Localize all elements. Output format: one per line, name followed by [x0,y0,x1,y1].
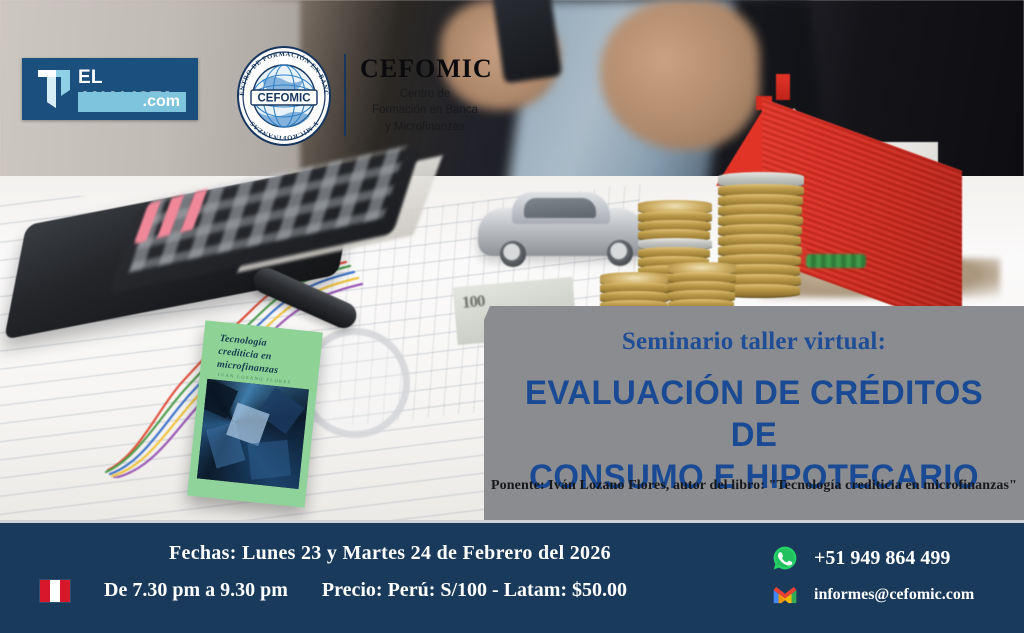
email-contact[interactable]: informes@cefomic.com [772,585,974,605]
seminar-kicker: Seminario taller virtual: [484,328,1024,356]
cefomic-tagline: Centro de Formación en Banca y Microfina… [360,86,490,135]
footer-time: De 7.30 pm a 9.30 pm [104,579,288,602]
toy-car-wheel-rear [607,240,633,266]
book-cover-artwork [197,379,309,489]
book-cover: Tecnología crediticia en microfinanzas I… [187,320,323,507]
promotional-poster: 100 [0,0,1024,633]
el-analista-logo[interactable]: EL ANALISTA .com [22,58,198,120]
footer-bar: Fechas: Lunes 23 y Martes 24 de Febrero … [0,523,1024,633]
seminar-title-line1: EVALUACIÓN DE CRÉDITOS DE [500,372,1008,456]
footer-price: Precio: Perú: S/100 - Latam: $50.00 [322,579,627,602]
gmail-icon [772,585,798,605]
house-chimney [776,74,790,100]
footer-dates: Fechas: Lunes 23 y Martes 24 de Febrero … [0,542,740,565]
whatsapp-icon [772,545,798,571]
whatsapp-number: +51 949 864 499 [814,547,950,570]
peru-flag-icon [40,580,70,602]
title-panel: Seminario taller virtual: EVALUACIÓN DE … [484,306,1024,523]
analista-mark-icon [36,68,72,110]
footer-details: Fechas: Lunes 23 y Martes 24 de Febrero … [0,523,740,633]
toy-car-wheel-front [500,241,526,267]
cefomic-wordmark: CEFOMIC [360,54,493,84]
email-address: informes@cefomic.com [814,586,974,604]
globe-badge-icon: CEFOMIC CENTRO DE FORMACIÓN EN BANCA Y M… [234,46,334,146]
presenter-line: Ponente: Iván Lozano Flores, autor del l… [484,478,1024,494]
footer-contacts: +51 949 864 499 informes@cefomic.com [760,523,1024,633]
banknote-value: 100 [461,291,485,313]
cefomic-logo[interactable]: CEFOMIC CENTRO DE FORMACIÓN EN BANCA Y M… [234,46,484,146]
cefomic-tagline-line3: y Microfinanzas [360,119,490,135]
cefomic-tagline-line1: Centro de [360,86,490,102]
toy-car-window [524,198,596,218]
whatsapp-contact[interactable]: +51 949 864 499 [772,545,950,571]
cefomic-tagline-line2: Formación en Banca [360,102,490,118]
cefomic-divider [344,54,346,136]
garden-hedge [806,254,866,268]
svg-text:CEFOMIC: CEFOMIC [257,93,310,105]
el-analista-domain: .com [143,93,180,111]
el-analista-domain-bar: .com [78,92,186,112]
smartphone [492,0,562,84]
footer-time-price-row: De 7.30 pm a 9.30 pm Precio: Perú: S/100… [40,579,740,602]
